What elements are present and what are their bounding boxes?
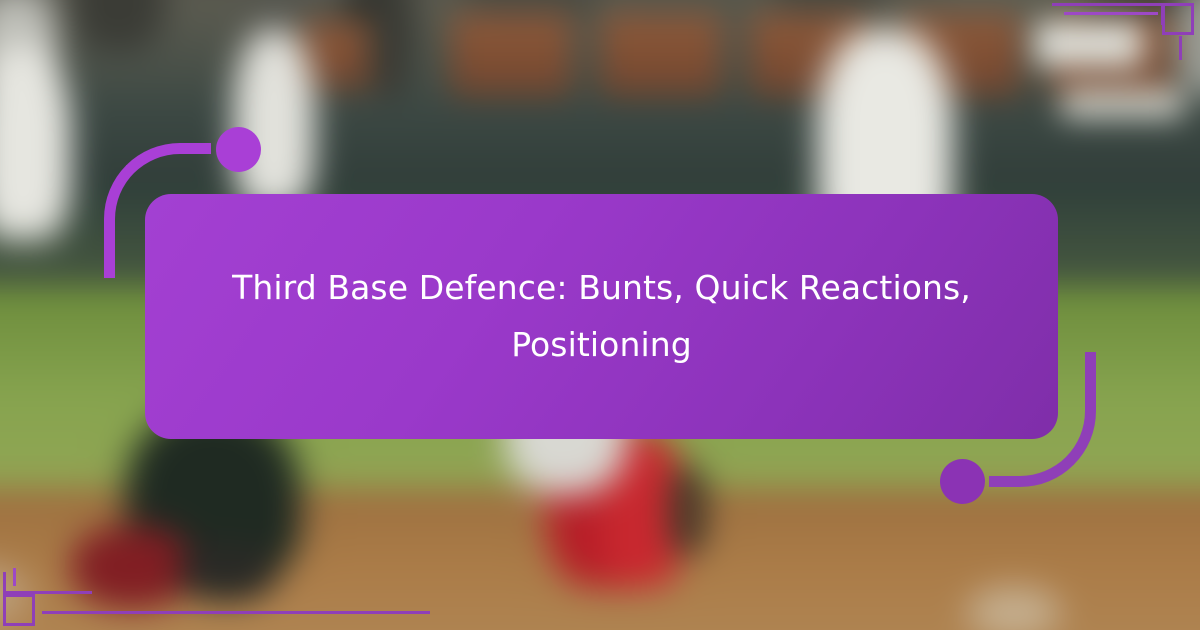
bracket-line-outer-horizontal [1052, 3, 1164, 6]
bracket-square [3, 594, 35, 626]
share-card-canvas: Third Base Defence: Bunts, Quick Reactio… [0, 0, 1200, 630]
circle-bottom-right [940, 459, 985, 504]
bracket-line-baseline [42, 611, 430, 614]
bracket-line-inner-vertical [13, 568, 16, 586]
bracket-square [1162, 3, 1194, 35]
title-card: Third Base Defence: Bunts, Quick Reactio… [145, 194, 1058, 439]
bracket-line-drop [1179, 36, 1182, 60]
page-title: Third Base Defence: Bunts, Quick Reactio… [201, 260, 1002, 374]
corner-bracket-bottom-left [0, 568, 170, 630]
corner-bracket-top-right [1040, 0, 1200, 60]
circle-top-left [216, 127, 261, 172]
bracket-line-inner-horizontal [1064, 12, 1158, 15]
